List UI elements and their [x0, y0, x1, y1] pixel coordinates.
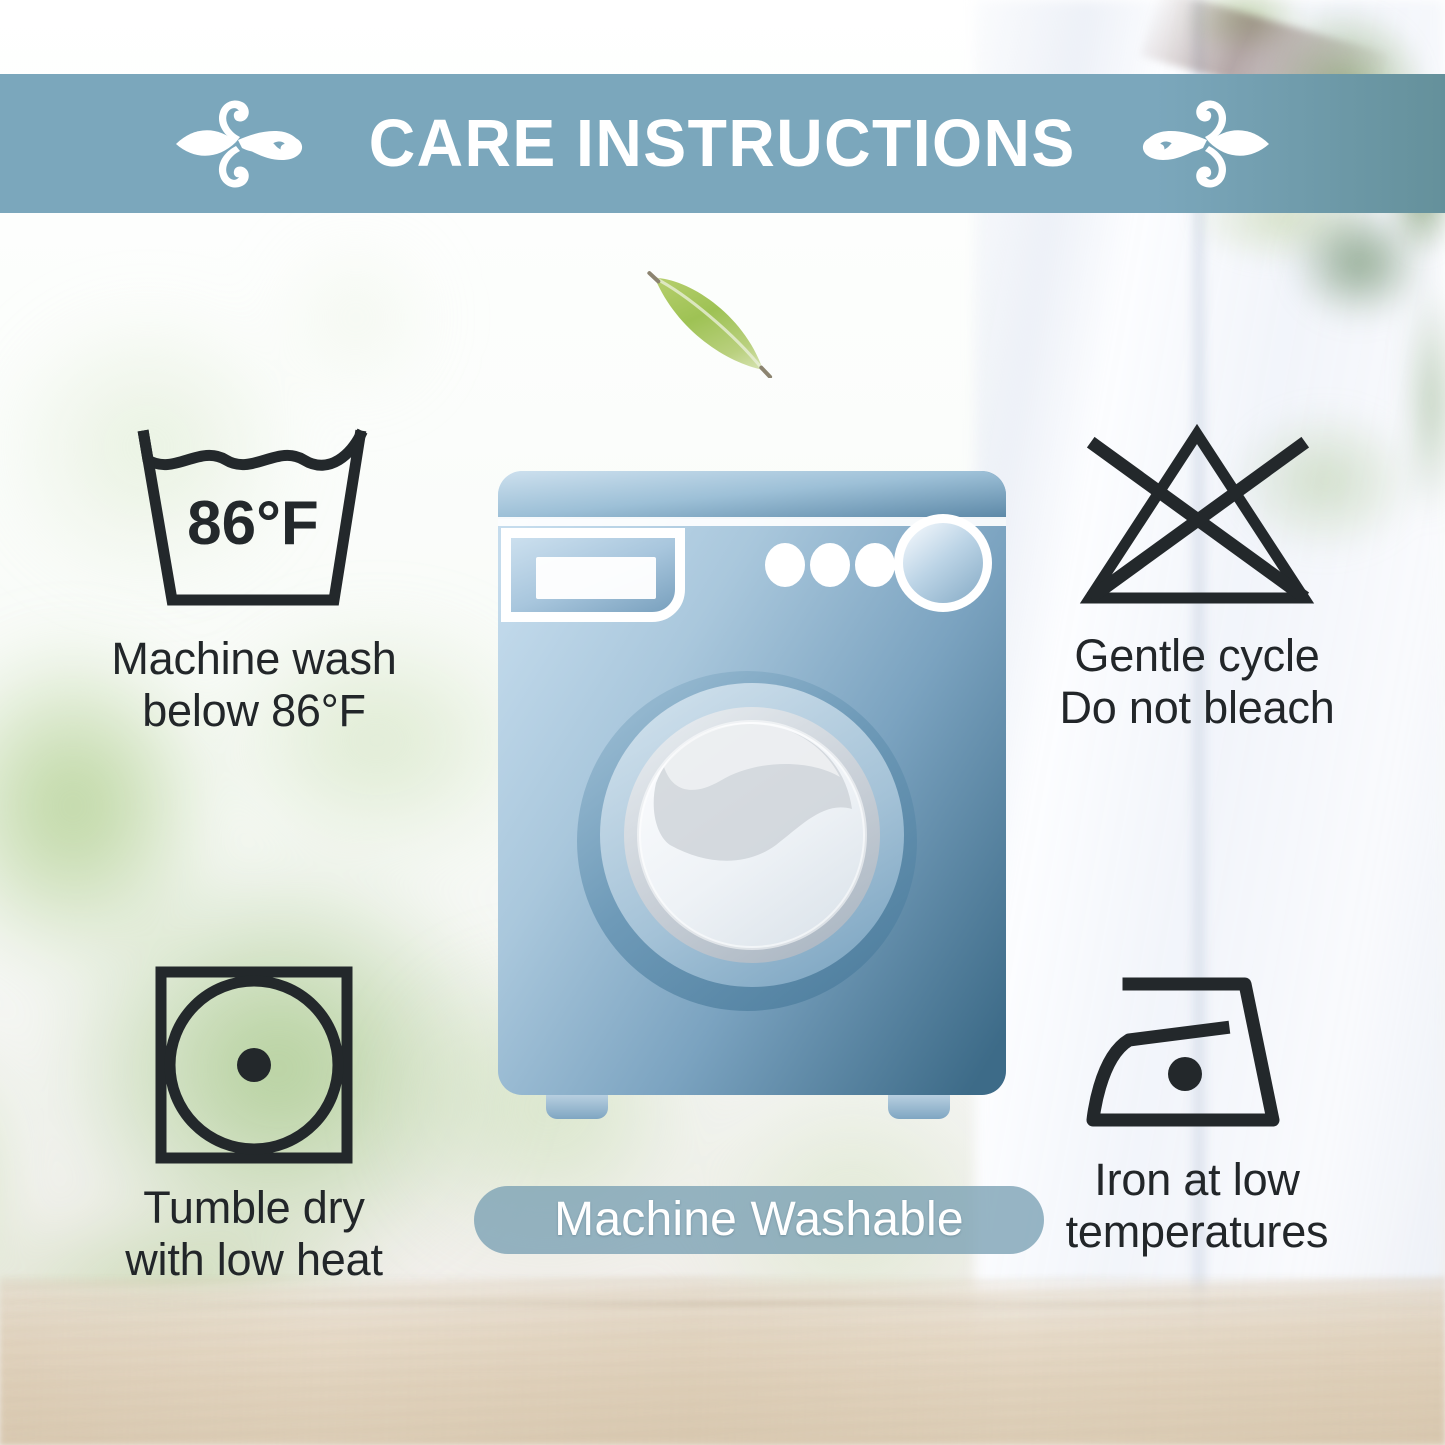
wash-temperature-value: 86°F [187, 489, 319, 558]
floating-leaf-icon [637, 268, 783, 378]
no-bleach-triangle-icon [1072, 418, 1322, 616]
care-instructions-poster: CARE INSTRUCTIONS [0, 0, 1445, 1445]
header-banner: CARE INSTRUCTIONS [0, 74, 1445, 213]
care-symbol-tumble-dry: Tumble dry with low heat [14, 962, 494, 1286]
wash-tub-icon: 86°F [126, 424, 382, 619]
machine-washable-badge: Machine Washable [474, 1186, 1044, 1254]
care-symbol-caption: Machine wash below 86°F [14, 633, 494, 737]
detergent-drawer-slot [536, 557, 656, 599]
indicator-light-3 [855, 543, 895, 587]
care-symbol-do-not-bleach: Gentle cycle Do not bleach [957, 418, 1437, 734]
fleur-de-lis-ornament-right-icon [1133, 96, 1273, 192]
indicator-light-1 [765, 543, 805, 587]
indicator-light-2 [810, 543, 850, 587]
iron-low-temperature-icon [1077, 962, 1317, 1140]
page-title: CARE INSTRUCTIONS [369, 110, 1076, 177]
washing-machine-illustration [484, 453, 1020, 1125]
care-symbol-machine-wash: 86°F Machine wash below 86°F [14, 424, 494, 737]
care-symbol-caption: Gentle cycle Do not bleach [957, 630, 1437, 734]
fleur-de-lis-ornament-left-icon [172, 96, 312, 192]
background-table-edge-line [0, 1302, 1445, 1305]
care-symbol-caption: Tumble dry with low heat [14, 1182, 494, 1286]
machine-washable-badge-label: Machine Washable [554, 1196, 964, 1244]
tumble-dry-low-heat-icon [151, 962, 357, 1168]
machine-top-panel [498, 471, 1006, 519]
